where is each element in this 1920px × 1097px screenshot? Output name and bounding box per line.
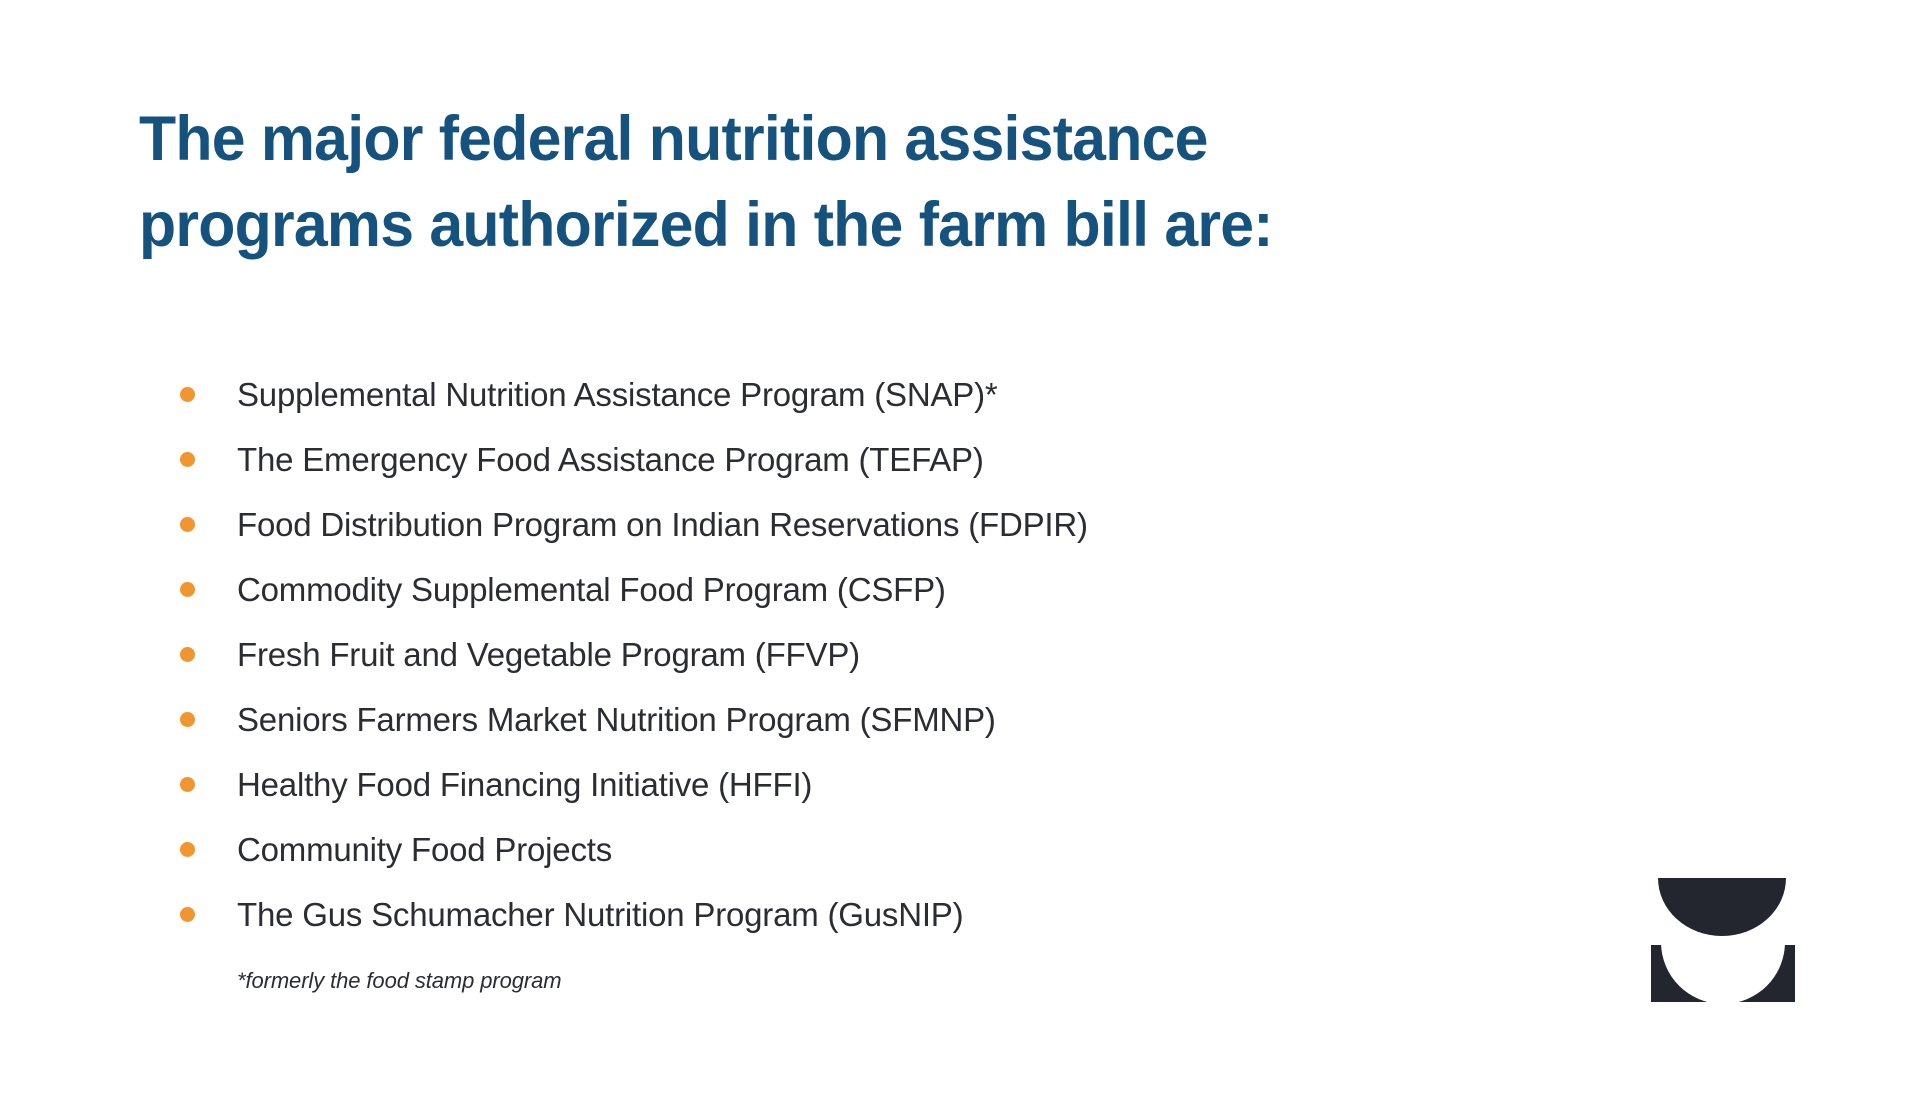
list-item-label: Healthy Food Financing Initiative (HFFI) (237, 765, 812, 805)
logo-lower-arch-shape (1651, 945, 1795, 1002)
list-item-label: The Emergency Food Assistance Program (T… (237, 440, 984, 480)
list-item-label: Fresh Fruit and Vegetable Program (FFVP) (237, 635, 860, 675)
list-item-label: Commodity Supplemental Food Program (CSF… (237, 570, 946, 610)
list-item: Commodity Supplemental Food Program (CSF… (170, 557, 1520, 622)
list-item: Seniors Farmers Market Nutrition Program… (170, 687, 1520, 752)
list-item-label: Supplemental Nutrition Assistance Progra… (237, 375, 998, 415)
list-item: Supplemental Nutrition Assistance Progra… (170, 362, 1520, 427)
logo-upper-bowl-shape (1658, 878, 1786, 936)
page-title: The major federal nutrition assistance p… (139, 96, 1559, 268)
bullet-dot-icon (180, 582, 195, 597)
slide-canvas: The major federal nutrition assistance p… (0, 0, 1920, 1097)
list-item: The Emergency Food Assistance Program (T… (170, 427, 1520, 492)
bullet-dot-icon (180, 712, 195, 727)
bullet-dot-icon (180, 777, 195, 792)
list-item-label: Community Food Projects (237, 830, 612, 870)
list-item: Community Food Projects (170, 817, 1520, 882)
page-title-line-1: The major federal nutrition assistance (139, 96, 1509, 182)
page-title-line-2: programs authorized in the farm bill are… (139, 182, 1509, 268)
list-item: Food Distribution Program on Indian Rese… (170, 492, 1520, 557)
brand-logo-icon (1651, 878, 1795, 1002)
bullet-dot-icon (180, 647, 195, 662)
bullet-dot-icon (180, 907, 195, 922)
list-item: The Gus Schumacher Nutrition Program (Gu… (170, 882, 1520, 947)
list-item: Fresh Fruit and Vegetable Program (FFVP) (170, 622, 1520, 687)
bullet-dot-icon (180, 452, 195, 467)
footnote: *formerly the food stamp program (237, 968, 562, 994)
list-item-label: Seniors Farmers Market Nutrition Program… (237, 700, 996, 740)
list-item-label: The Gus Schumacher Nutrition Program (Gu… (237, 895, 963, 935)
program-list: Supplemental Nutrition Assistance Progra… (170, 362, 1520, 947)
bullet-dot-icon (180, 387, 195, 402)
bullet-dot-icon (180, 842, 195, 857)
list-item-label: Food Distribution Program on Indian Rese… (237, 505, 1088, 545)
list-item: Healthy Food Financing Initiative (HFFI) (170, 752, 1520, 817)
bullet-dot-icon (180, 517, 195, 532)
